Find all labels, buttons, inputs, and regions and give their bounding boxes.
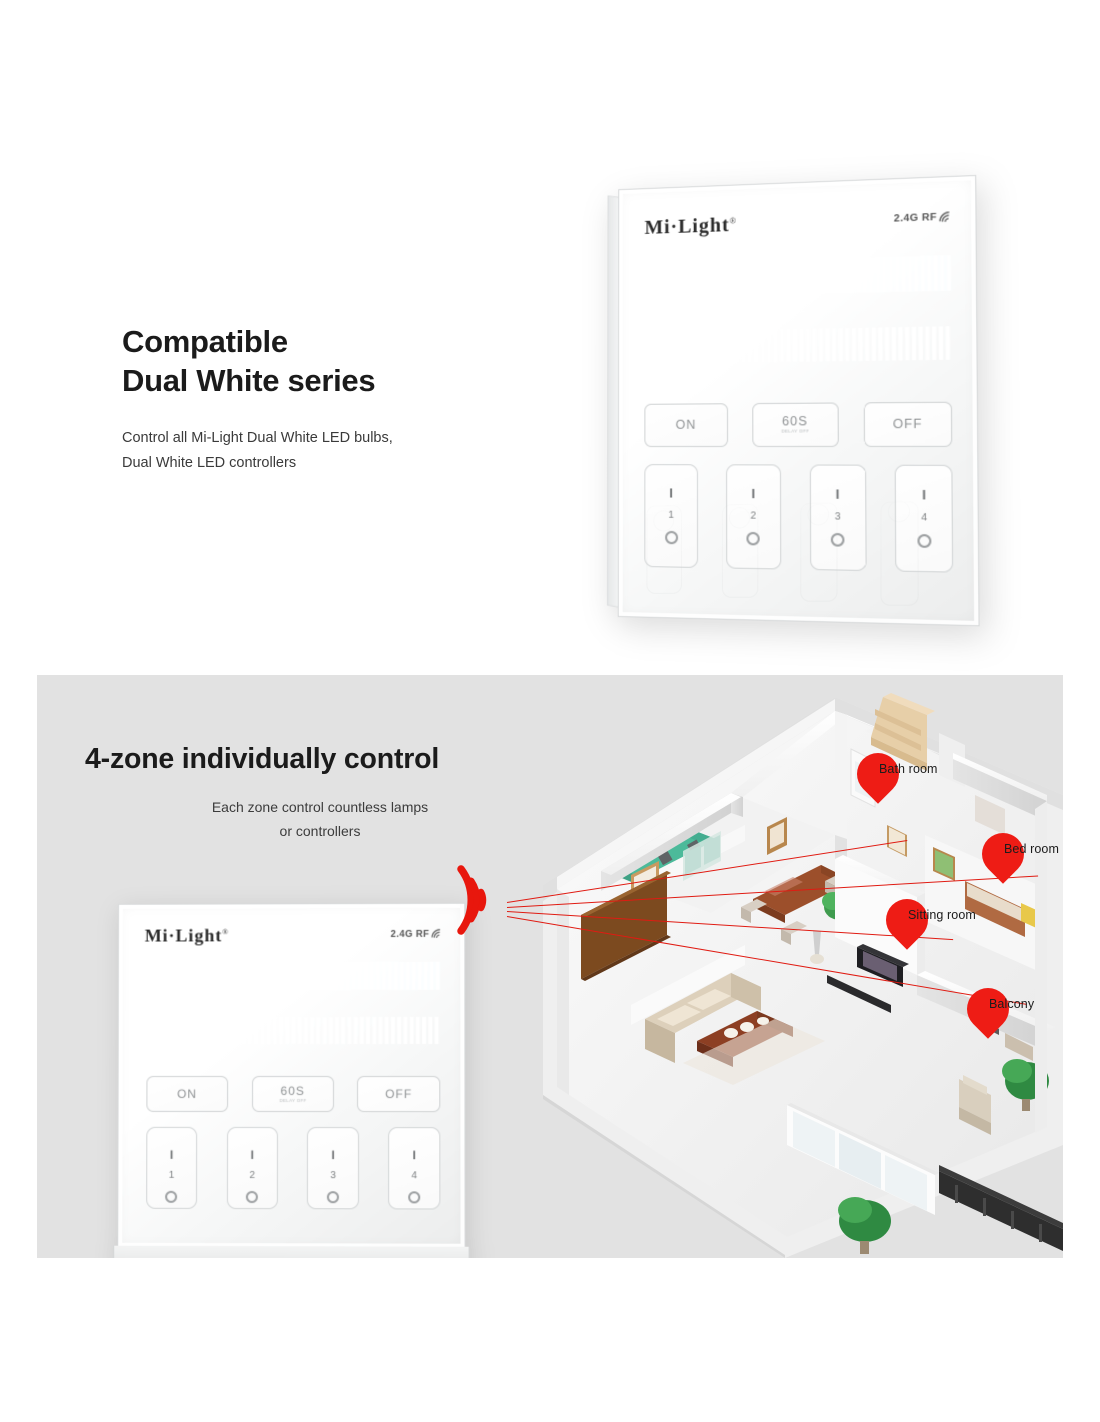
zone-4-number: 4 — [921, 513, 927, 524]
compatible-section: Compatible Dual White series Control all… — [0, 0, 1100, 675]
wall-panel-device-top: Mi·Light® 2.4G RF — [618, 175, 980, 626]
zone-2-number: 2 — [750, 512, 756, 522]
off-button-label: OFF — [893, 417, 923, 432]
zone-1-button[interactable]: I 1 — [644, 464, 698, 568]
zone-heading: 4-zone individually control — [85, 743, 585, 776]
rf-badge: 2.4G RF — [894, 211, 953, 228]
delay-off-button-sublabel-bottom: DELAY OFF — [279, 1098, 306, 1103]
zone-2-button[interactable]: I 2 — [726, 464, 781, 569]
brand-logo-text-bottom: Mi·Light — [145, 925, 223, 945]
pin-label-balcony: Balcony — [989, 997, 1034, 1011]
zone-4-on-mark-bottom: I — [413, 1149, 416, 1161]
rf-badge-label-bottom: 2.4G RF — [391, 928, 430, 940]
on-button-label-bottom: ON — [177, 1086, 197, 1100]
brand-logo: Mi·Light® — [645, 213, 737, 239]
cct-tick-mask — [645, 255, 952, 298]
on-button-bottom[interactable]: ON — [146, 1076, 228, 1112]
zone-2-on-mark-bottom: I — [251, 1148, 254, 1160]
delay-off-button-label-bottom: 60S — [281, 1083, 305, 1097]
zone-button-row-bottom: I 1 I 2 I 3 I — [146, 1127, 440, 1210]
color-temperature-slider[interactable] — [645, 255, 952, 298]
brand-logo-text: Mi·Light — [645, 214, 730, 239]
function-button-row: ON 60S DELAY OFF OFF — [644, 402, 952, 447]
zone-4-on-mark: I — [922, 488, 926, 502]
brightness-tick-mask — [645, 326, 953, 364]
compatible-copy-block: Compatible Dual White series Control all… — [122, 322, 542, 476]
delay-off-button-bottom[interactable]: 60S DELAY OFF — [252, 1076, 334, 1112]
zone-1-number-bottom: 1 — [169, 1171, 175, 1181]
zone-3-button[interactable]: I 3 — [809, 464, 866, 571]
zone-2-button-bottom[interactable]: I 2 — [226, 1127, 277, 1209]
zone-2-off-mark — [747, 532, 760, 546]
delay-off-button-label: 60S — [782, 414, 808, 428]
zone-subtext-line1: Each zone control countless lamps — [85, 795, 555, 819]
compatible-heading-line1: Compatible — [122, 322, 542, 361]
off-button-label-bottom: OFF — [385, 1087, 412, 1101]
off-button[interactable]: OFF — [863, 402, 952, 447]
pin-label-sitting-room: Sitting room — [908, 908, 976, 922]
on-button[interactable]: ON — [644, 403, 727, 446]
zone-1-number: 1 — [668, 511, 674, 521]
pin-label-bed-room: Bed room — [1004, 842, 1059, 856]
compatible-heading: Compatible Dual White series — [122, 322, 542, 400]
function-button-row-bottom: ON 60S DELAY OFF OFF — [146, 1076, 440, 1112]
panel-front-face: Mi·Light® 2.4G RF — [618, 175, 980, 626]
compatible-subtext: Control all Mi-Light Dual White LED bulb… — [122, 426, 542, 476]
rf-badge-label: 2.4G RF — [894, 211, 937, 224]
zone-3-off-mark — [831, 533, 845, 547]
zone-1-on-mark: I — [669, 486, 673, 499]
pin-label-bath-room: Bath room — [879, 762, 938, 776]
wifi-arc-icon-bottom — [431, 928, 443, 941]
four-zone-section: 4-zone individually control Each zone co… — [37, 675, 1063, 1258]
compatible-subtext-line2: Dual White LED controllers — [122, 451, 542, 476]
zone-2-off-mark-bottom — [246, 1191, 258, 1203]
off-button-bottom[interactable]: OFF — [357, 1076, 440, 1112]
zone-4-button[interactable]: I 4 — [895, 464, 953, 572]
wifi-arc-icon — [939, 211, 953, 226]
on-button-label: ON — [676, 418, 697, 432]
zone-1-button-bottom[interactable]: I 1 — [146, 1127, 197, 1209]
zone-2-on-mark: I — [751, 487, 755, 500]
brightness-slider-bottom[interactable] — [146, 1017, 440, 1044]
zone-1-off-mark-bottom — [166, 1191, 178, 1203]
zone-4-button-bottom[interactable]: I 4 — [388, 1127, 440, 1210]
zone-1-on-mark-bottom: I — [170, 1148, 173, 1160]
zone-4-number-bottom: 4 — [411, 1172, 417, 1182]
zone-subtext: Each zone control countless lamps or con… — [85, 795, 555, 843]
cct-tick-mask-bottom — [146, 962, 440, 991]
zone-3-number-bottom: 3 — [330, 1172, 336, 1182]
registered-mark-bottom: ® — [222, 927, 229, 936]
brightness-tick-mask-bottom — [146, 1017, 440, 1044]
wall-panel-device-bottom: Mi·Light® 2.4G RF — [117, 903, 465, 1249]
delay-off-button[interactable]: 60S DELAY OFF — [752, 403, 838, 447]
rf-badge-bottom: 2.4G RF — [391, 928, 444, 941]
brightness-slider[interactable] — [645, 326, 953, 364]
compatible-heading-line2: Dual White series — [122, 361, 542, 400]
zone-3-on-mark: I — [836, 487, 840, 501]
zone-3-off-mark-bottom — [327, 1191, 339, 1203]
color-temperature-slider-bottom[interactable] — [146, 962, 440, 991]
zone-button-row: I 1 I 2 I 3 I — [644, 464, 953, 573]
brand-logo-bottom: Mi·Light® — [145, 925, 229, 946]
zone-3-number: 3 — [835, 512, 841, 522]
zone-subtext-line2: or controllers — [85, 819, 555, 843]
zone-3-button-bottom[interactable]: I 3 — [307, 1127, 359, 1210]
zone-3-on-mark-bottom: I — [331, 1149, 334, 1161]
zone-1-off-mark — [665, 531, 678, 544]
delay-off-button-sublabel: DELAY OFF — [781, 429, 809, 435]
compatible-subtext-line1: Control all Mi-Light Dual White LED bulb… — [122, 426, 542, 451]
panel-front-face-bottom: Mi·Light® 2.4G RF — [117, 903, 465, 1249]
panel-bottom-base — [113, 1246, 469, 1258]
zone-4-off-mark-bottom — [408, 1192, 420, 1204]
zone-4-off-mark — [917, 535, 931, 549]
zone-2-number-bottom: 2 — [249, 1171, 255, 1181]
registered-mark: ® — [730, 216, 737, 225]
